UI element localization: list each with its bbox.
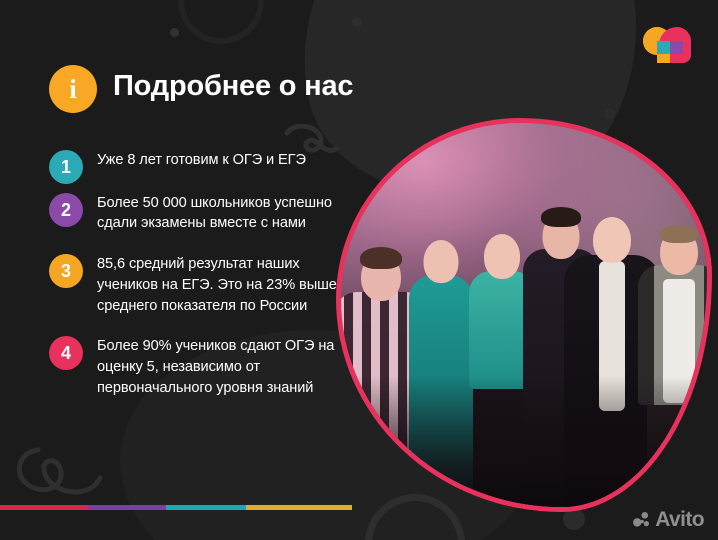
list-item: 2 Более 50 000 школьников успешно сдали … [49,193,349,234]
fact-text-1: Уже 8 лет готовим к ОГЭ и ЕГЭ [97,150,349,171]
color-bar-segment-4 [246,505,352,510]
avito-watermark-text: Avito [655,509,704,530]
photo-floor-shadow [341,376,707,507]
fact-badge-1: 1 [49,150,83,184]
decor-dot-icon-a [170,28,179,37]
fact-number-4: 4 [61,344,71,362]
list-item: 3 85,6 средний результат наших учеников … [49,254,349,316]
team-photo [336,118,712,512]
decor-dot-icon-b [352,17,362,27]
fact-number-2: 2 [61,201,71,219]
team-photo-blob [336,118,712,512]
fact-number-3: 3 [61,262,71,280]
fact-text-4: Более 90% учеников сдают ОГЭ на оценку 5… [97,336,349,398]
team-photo-image [341,123,707,507]
page-title: Подробнее о нас [113,70,353,103]
color-bar-segment-3 [166,505,246,510]
fact-text-2: Более 50 000 школьников успешно сдали эк… [97,193,349,234]
color-bar-segment-2 [88,505,166,510]
info-icon-glyph: i [69,76,77,103]
avito-dots-icon [633,512,650,527]
squiggle-bottom-icon [8,440,114,506]
list-item: 4 Более 90% учеников сдают ОГЭ на оценку… [49,336,349,398]
accent-color-bar [0,505,352,510]
fact-number-1: 1 [61,158,71,176]
facts-list: 1 Уже 8 лет готовим к ОГЭ и ЕГЭ 2 Более … [49,150,349,398]
avito-watermark: Avito [633,509,704,530]
fact-badge-2: 2 [49,193,83,227]
slide-root: i Подробнее о нас 1 Уже 8 лет готовим к … [0,0,718,540]
fact-badge-3: 3 [49,254,83,288]
color-bar-segment-1 [0,505,88,510]
fact-badge-4: 4 [49,336,83,370]
brand-logo-icon [643,27,691,63]
fact-text-3: 85,6 средний результат наших учеников на… [97,254,349,316]
list-item: 1 Уже 8 лет готовим к ОГЭ и ЕГЭ [49,150,349,171]
info-icon: i [49,65,97,113]
